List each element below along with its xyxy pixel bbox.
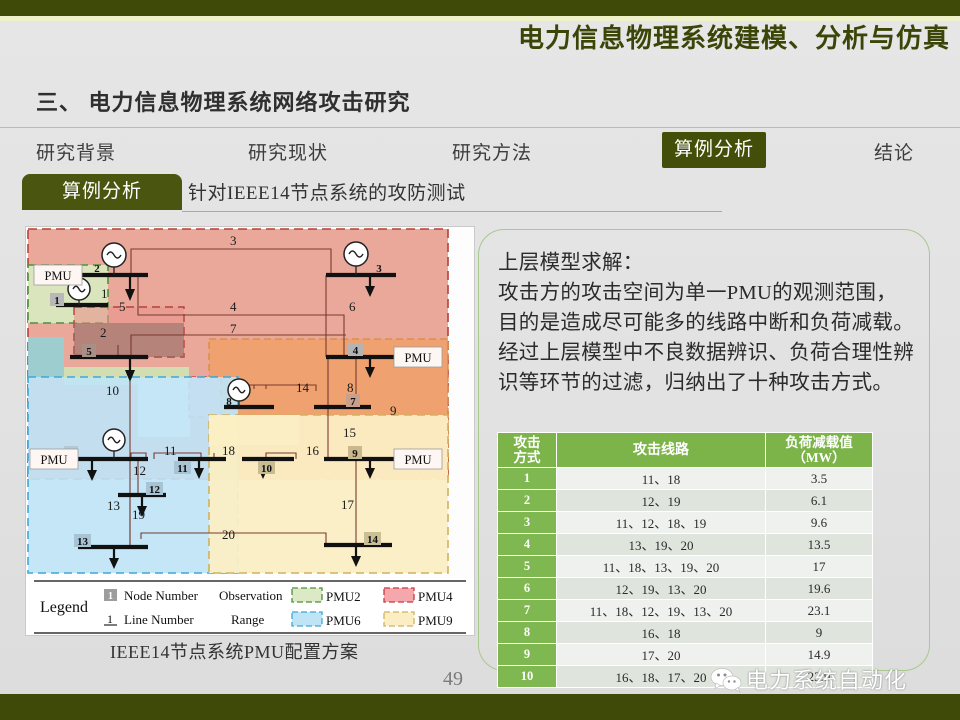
cell-attack-mode: 9 — [498, 644, 557, 666]
svg-text:15: 15 — [343, 425, 356, 440]
svg-text:5: 5 — [119, 299, 126, 314]
legend-line-symbol: 1 — [107, 612, 113, 626]
svg-text:9: 9 — [390, 403, 397, 418]
table-row: 816、189 — [498, 622, 873, 644]
col-header-attack-mode-line1: 攻击 — [498, 435, 556, 450]
svg-text:PMU: PMU — [44, 269, 71, 283]
ieee14-figure: 1 2 3 4 5 6 7 8 9 10 11 12 13 14 1 2 3 4 — [25, 226, 475, 636]
cell-attack-lines: 16、18 — [557, 622, 766, 644]
cell-attack-mode: 3 — [498, 512, 557, 534]
cell-attack-lines: 11、18、13、19、20 — [557, 556, 766, 578]
svg-text:11: 11 — [164, 443, 177, 458]
explanation-lead: 上层模型求解： — [498, 248, 916, 278]
explanation-text: 上层模型求解： 攻击方的攻击空间为单一PMU的观测范围，目的是造成尽可能多的线路… — [498, 248, 916, 398]
brand-watermark: 电力系统自动化 — [710, 664, 907, 694]
cell-attack-mode: 6 — [498, 578, 557, 600]
nav-bar: 研究背景 研究现状 研究方法 结论 — [0, 132, 960, 172]
cell-attack-lines: 13、19、20 — [557, 534, 766, 556]
top-accent-bar — [0, 0, 960, 16]
svg-text:14: 14 — [367, 534, 379, 546]
svg-text:4: 4 — [230, 299, 237, 314]
cell-load-shed: 23.1 — [766, 600, 873, 622]
col-header-load-shed-line1: 负荷减载值 — [766, 435, 872, 450]
pmu-tag-bus4: PMU — [394, 347, 442, 367]
table-row: 311、12、18、199.6 — [498, 512, 873, 534]
svg-text:8: 8 — [226, 396, 232, 408]
region-pmu9-notch — [209, 415, 299, 445]
figure-legend: Legend 1 Node Number 1 Line Number Obser… — [26, 579, 474, 635]
cell-attack-mode: 1 — [498, 468, 557, 490]
svg-text:3: 3 — [376, 263, 382, 275]
cell-attack-mode: 7 — [498, 600, 557, 622]
section-heading: 三、 电力信息物理系统网络攻击研究 — [36, 85, 411, 117]
attack-modes-table-body: 111、183.5212、196.1311、12、18、199.6413、19、… — [498, 468, 873, 688]
svg-text:17: 17 — [341, 497, 355, 512]
svg-text:19: 19 — [132, 507, 145, 522]
svg-text:13: 13 — [77, 536, 89, 548]
nav-item-research-background[interactable]: 研究背景 — [36, 138, 116, 165]
ieee14-diagram: 1 2 3 4 5 6 7 8 9 10 11 12 13 14 1 2 3 4 — [26, 227, 474, 579]
brand-label: 电力系统自动化 — [746, 663, 907, 695]
cell-attack-lines: 12、19 — [557, 490, 766, 512]
legend-node-number-label: Node Number — [124, 588, 199, 603]
subsection-tab[interactable]: 算例分析 — [22, 174, 182, 210]
cell-attack-lines: 11、18 — [557, 468, 766, 490]
nav-active-label: 算例分析 — [662, 132, 766, 168]
svg-text:2: 2 — [94, 263, 100, 275]
page-number: 49 — [443, 668, 463, 691]
cell-load-shed: 17 — [766, 556, 873, 578]
svg-text:12: 12 — [149, 484, 161, 496]
table-row: 212、196.1 — [498, 490, 873, 512]
col-header-attack-lines: 攻击线路 — [557, 433, 766, 468]
cell-attack-lines: 12、19、13、20 — [557, 578, 766, 600]
svg-text:16: 16 — [306, 443, 320, 458]
legend-label-pmu6: PMU6 — [326, 613, 361, 628]
col-header-attack-mode: 攻击 方式 — [498, 433, 557, 468]
svg-text:5: 5 — [86, 346, 92, 358]
page-title: 电力信息物理系统建模、分析与仿真 — [330, 18, 950, 60]
table-row: 413、19、2013.5 — [498, 534, 873, 556]
table-header-row: 攻击 方式 攻击线路 负荷减载值 （MW） — [498, 433, 873, 468]
svg-text:4: 4 — [353, 345, 359, 357]
legend-swatch-pmu9 — [384, 612, 414, 626]
heading-divider — [0, 127, 960, 128]
pmu-tag-bus6: PMU — [30, 449, 78, 469]
legend-swatch-pmu6 — [292, 612, 322, 626]
cell-attack-mode: 4 — [498, 534, 557, 556]
table-row: 711、18、12、19、13、2023.1 — [498, 600, 873, 622]
svg-text:1: 1 — [54, 295, 60, 307]
svg-text:12: 12 — [133, 463, 146, 478]
col-header-attack-mode-line2: 方式 — [498, 450, 556, 465]
bottom-accent-bar — [0, 694, 960, 720]
nav-item-research-method[interactable]: 研究方法 — [452, 138, 532, 165]
subsection-tab-label: 算例分析 — [22, 174, 182, 210]
legend-observation-label: Observation — [219, 588, 283, 603]
pmu-tag-bus2: PMU — [34, 265, 82, 285]
svg-text:PMU: PMU — [404, 453, 431, 467]
svg-text:3: 3 — [230, 233, 237, 248]
svg-text:PMU: PMU — [40, 453, 67, 467]
cell-attack-mode: 2 — [498, 490, 557, 512]
svg-text:6: 6 — [349, 299, 356, 314]
nav-item-conclusion[interactable]: 结论 — [874, 138, 914, 165]
svg-text:14: 14 — [296, 380, 310, 395]
figure-caption: IEEE14节点系统PMU配置方案 — [110, 638, 359, 664]
table-row: 612、19、13、2019.6 — [498, 578, 873, 600]
svg-text:10: 10 — [106, 383, 119, 398]
subsection-divider — [182, 211, 722, 212]
legend-label-pmu2: PMU2 — [326, 589, 361, 604]
legend-label-pmu4: PMU4 — [418, 589, 453, 604]
cell-load-shed: 9.6 — [766, 512, 873, 534]
cell-load-shed: 9 — [766, 622, 873, 644]
nav-item-research-status[interactable]: 研究现状 — [248, 138, 328, 165]
svg-text:2: 2 — [100, 325, 107, 340]
cell-load-shed: 13.5 — [766, 534, 873, 556]
legend-line-number-label: Line Number — [124, 612, 194, 627]
cell-attack-mode: 5 — [498, 556, 557, 578]
wechat-icon — [710, 667, 740, 691]
cell-load-shed: 6.1 — [766, 490, 873, 512]
cell-load-shed: 19.6 — [766, 578, 873, 600]
cell-attack-mode: 8 — [498, 622, 557, 644]
svg-text:20: 20 — [222, 527, 235, 542]
subsection-title: 针对IEEE14节点系统的攻防测试 — [188, 178, 466, 205]
cell-attack-lines: 11、18、12、19、13、20 — [557, 600, 766, 622]
cell-attack-lines: 17、20 — [557, 644, 766, 666]
svg-text:13: 13 — [107, 498, 120, 513]
pmu-tag-bus9: PMU — [394, 449, 442, 469]
svg-text:11: 11 — [177, 463, 187, 475]
legend-svg: Legend 1 Node Number 1 Line Number Obser… — [26, 579, 474, 635]
svg-text:10: 10 — [261, 463, 273, 475]
nav-item-case-analysis-active[interactable]: 算例分析 — [662, 132, 766, 168]
col-header-load-shed: 负荷减载值 （MW） — [766, 433, 873, 468]
cell-load-shed: 3.5 — [766, 468, 873, 490]
slide-root: 电力信息物理系统建模、分析与仿真 三、 电力信息物理系统网络攻击研究 研究背景 … — [0, 0, 960, 720]
col-header-load-shed-line2: （MW） — [766, 450, 872, 465]
legend-range-label: Range — [231, 612, 264, 627]
legend-swatch-pmu2 — [292, 588, 322, 602]
cell-attack-mode: 10 — [498, 666, 557, 688]
legend-swatch-pmu4 — [384, 588, 414, 602]
cell-attack-lines: 11、12、18、19 — [557, 512, 766, 534]
legend-node-symbol: 1 — [108, 591, 113, 602]
table-row: 111、183.5 — [498, 468, 873, 490]
svg-text:18: 18 — [222, 443, 235, 458]
svg-text:1: 1 — [101, 286, 108, 301]
table-row: 511、18、13、19、2017 — [498, 556, 873, 578]
svg-text:7: 7 — [230, 321, 237, 336]
legend-label-pmu9: PMU9 — [418, 613, 453, 628]
explanation-body: 攻击方的攻击空间为单一PMU的观测范围，目的是造成尽可能多的线路中断和负荷减载。… — [498, 282, 914, 394]
legend-title: Legend — [40, 599, 88, 616]
attack-modes-table: 攻击 方式 攻击线路 负荷减载值 （MW） 111、183.5212、196.1… — [497, 432, 873, 688]
svg-text:PMU: PMU — [404, 351, 431, 365]
svg-text:7: 7 — [350, 396, 356, 408]
svg-text:9: 9 — [352, 448, 358, 460]
svg-text:8: 8 — [347, 380, 354, 395]
region-overlap-teal — [28, 337, 64, 379]
